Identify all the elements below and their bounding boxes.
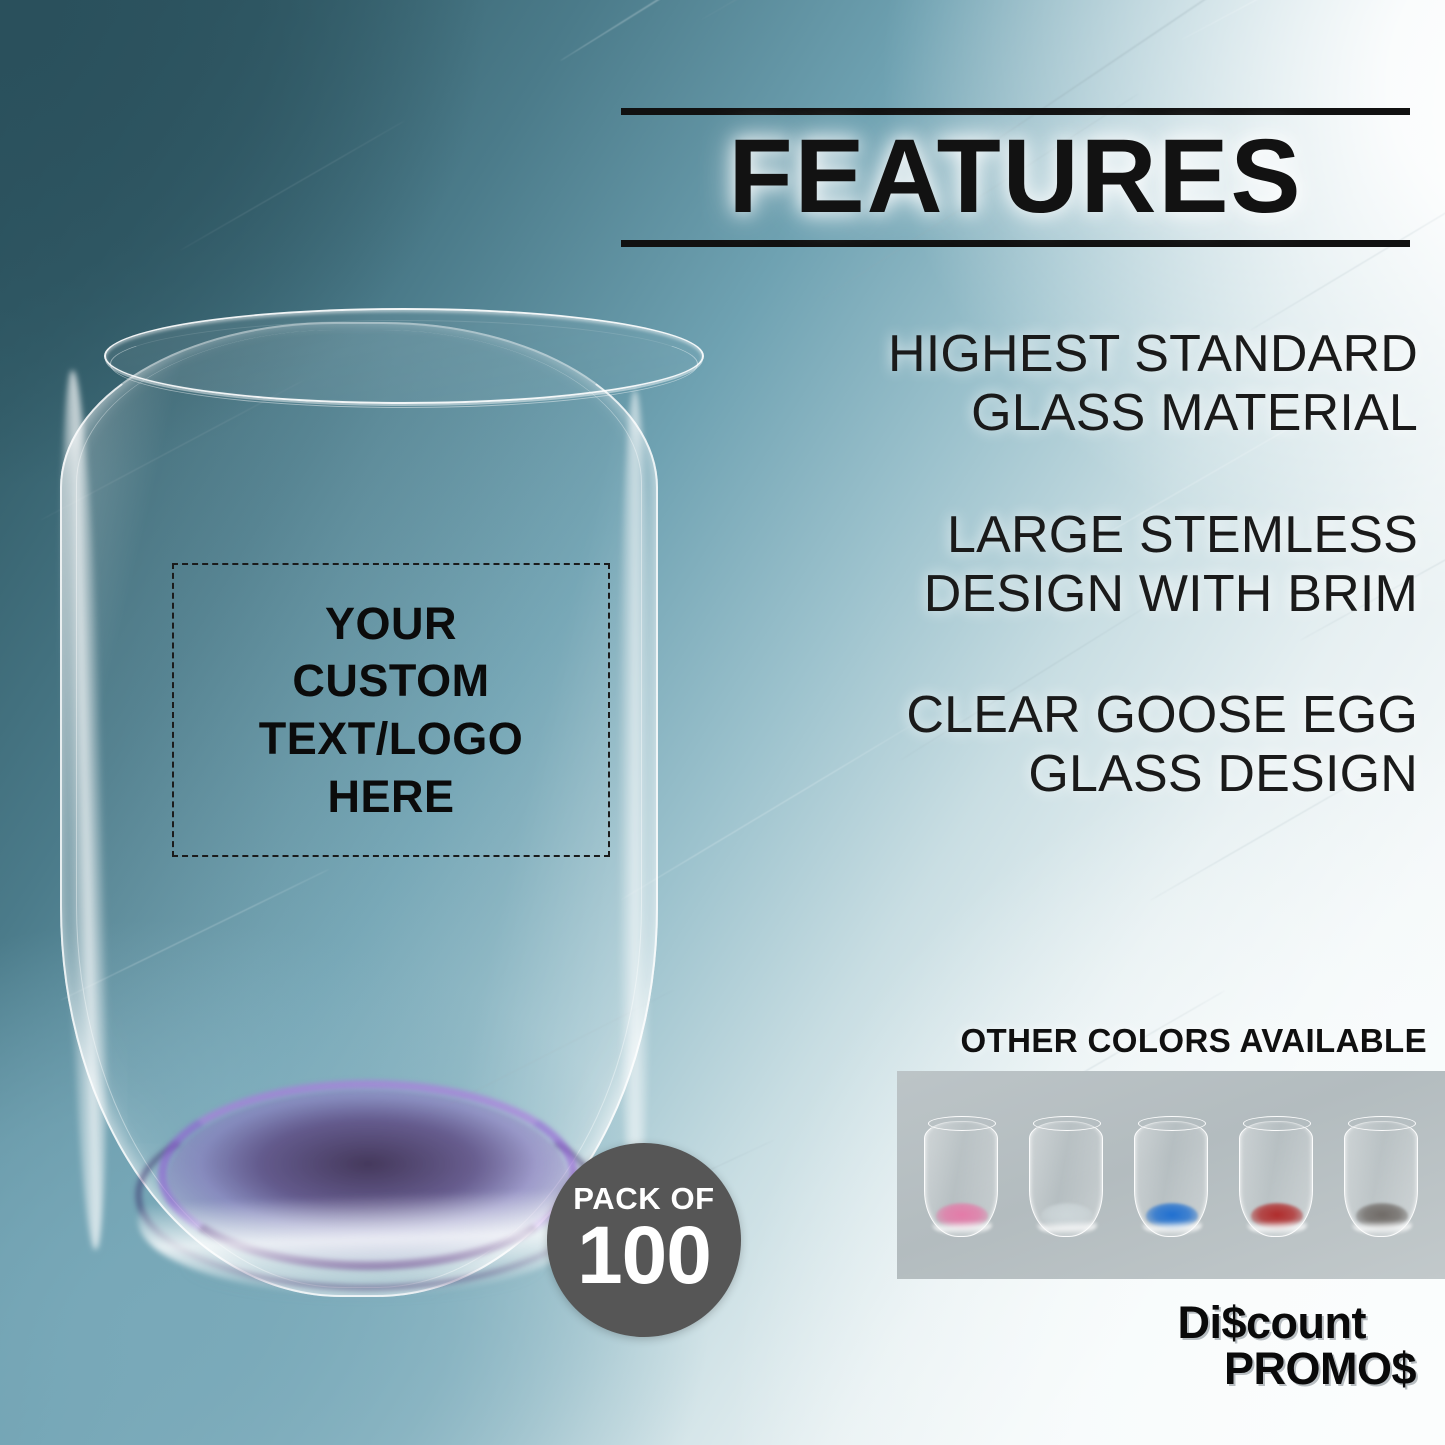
swatch-glass-rim [1033, 1116, 1101, 1131]
feature-line: CLEAR GOOSE EGG [700, 686, 1418, 745]
brand-logo: Di$count PROMO$ [1128, 1300, 1418, 1392]
glass-highlight-right [618, 390, 652, 1230]
header-rule-top [621, 108, 1410, 115]
pack-of-badge: PACK OF 100 [547, 1143, 741, 1337]
imprint-area: YOUR CUSTOM TEXT/LOGO HERE [172, 563, 610, 857]
glass-rim-inner [110, 320, 698, 408]
color-swatch-blue [1128, 1111, 1214, 1239]
imprint-line-3: TEXT/LOGO [259, 710, 524, 768]
swatch-glass-rim [928, 1116, 996, 1131]
swatch-glass-gloss [1352, 1215, 1412, 1235]
swatch-glass-gloss [1142, 1215, 1202, 1235]
features-list: HIGHEST STANDARDGLASS MATERIAL LARGE STE… [700, 325, 1418, 805]
swatch-glass-rim [1138, 1116, 1206, 1131]
marble-vein [700, 0, 1012, 21]
color-swatch-clear [1023, 1111, 1109, 1239]
pack-badge-count: 100 [577, 1216, 711, 1296]
feature-item: LARGE STEMLESSDESIGN WITH BRIM [700, 506, 1418, 625]
other-colors-heading: OTHER COLORS AVAILABLE [700, 1022, 1427, 1060]
color-swatch-red [1233, 1111, 1319, 1239]
imprint-line-2: CUSTOM [292, 652, 489, 710]
swatch-glass-gloss [932, 1215, 992, 1235]
logo-line-2: PROMO$ [1128, 1345, 1418, 1392]
page-title: FEATURES [621, 115, 1410, 240]
other-colors-panel [897, 1071, 1445, 1279]
swatch-glass-rim [1243, 1116, 1311, 1131]
product-feature-image: YOUR CUSTOM TEXT/LOGO HERE PACK OF 100 F… [0, 0, 1445, 1445]
header-rule-bottom [621, 240, 1410, 247]
glass-base-gloss [138, 1145, 593, 1295]
marble-vein [180, 120, 406, 251]
swatch-glass-rim [1348, 1116, 1416, 1131]
feature-line: GLASS DESIGN [700, 745, 1418, 804]
swatch-glass-gloss [1037, 1215, 1097, 1235]
feature-line: LARGE STEMLESS [700, 506, 1418, 565]
imprint-line-4: HERE [327, 768, 454, 826]
feature-line: DESIGN WITH BRIM [700, 565, 1418, 624]
marble-vein [1180, 0, 1445, 41]
feature-item: HIGHEST STANDARDGLASS MATERIAL [700, 325, 1418, 444]
swatch-glass-gloss [1247, 1215, 1307, 1235]
logo-line-1: Di$count [1128, 1300, 1418, 1345]
color-swatch-smoke [1338, 1111, 1424, 1239]
color-swatch-pink [918, 1111, 1004, 1239]
feature-item: CLEAR GOOSE EGGGLASS DESIGN [700, 686, 1418, 805]
feature-line: GLASS MATERIAL [700, 384, 1418, 443]
imprint-line-1: YOUR [325, 595, 457, 653]
marble-vein [559, 0, 1001, 62]
color-swatch-row [897, 1071, 1445, 1279]
features-header: FEATURES [621, 108, 1410, 247]
feature-line: HIGHEST STANDARD [700, 325, 1418, 384]
